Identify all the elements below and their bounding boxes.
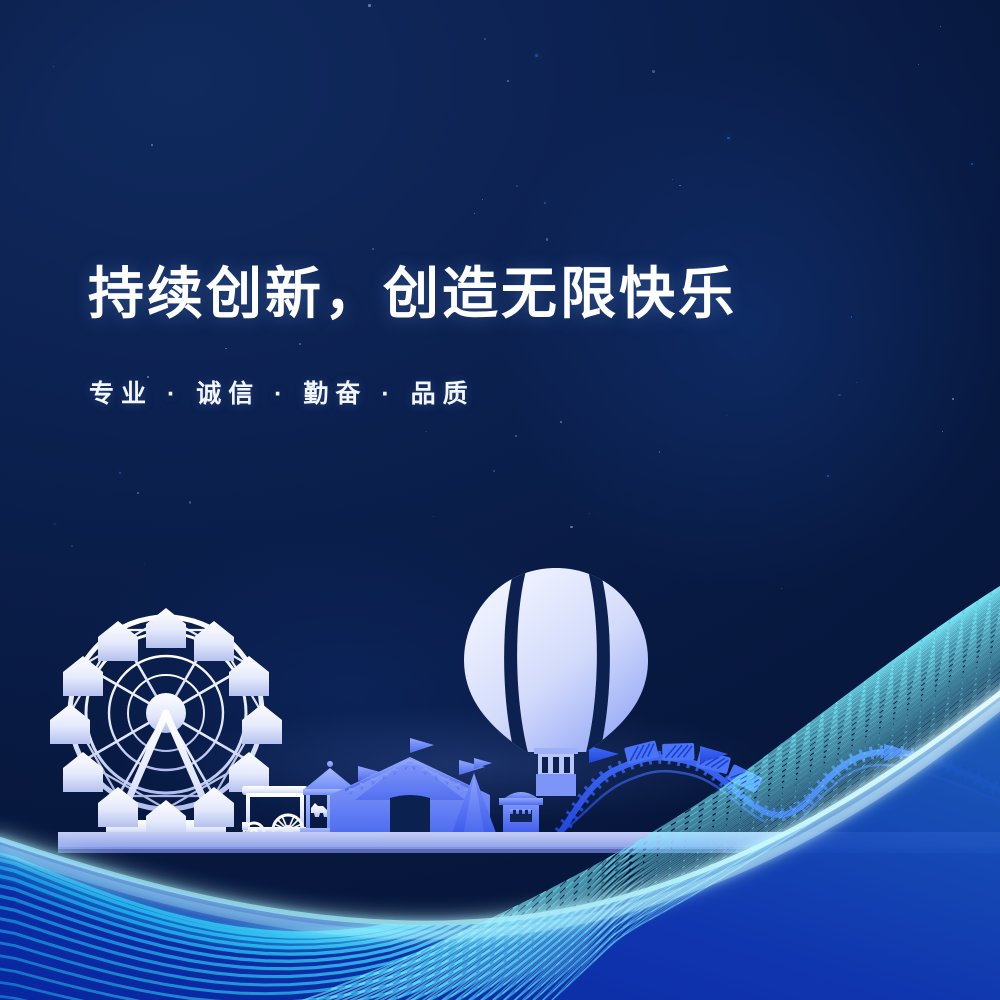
wave-mesh-line [569,836,602,868]
wave-mesh-line [585,810,615,839]
wave-mesh-line [699,752,727,769]
wave-mesh-line [739,734,768,753]
wave-mesh-line [560,824,588,849]
wave-mesh-line [488,883,518,907]
wave-mesh-line [727,735,754,751]
wave-mesh-line [615,789,643,806]
wave-mesh-line [435,902,462,918]
wave-mesh-line [587,802,615,828]
glowing-wave-mesh [0,0,1000,1000]
wave-mesh-line [656,775,685,792]
wave-mesh-line [613,797,643,816]
wave-mesh-line [574,810,601,834]
wave-mesh-line [653,788,685,807]
wave-mesh-line [588,799,615,824]
wave-mesh-line [630,780,657,794]
wave-mesh-line [476,882,504,903]
wave-mesh-line [652,792,685,812]
wave-mesh-line [542,853,574,882]
wave-mesh-line [502,874,532,899]
wave-mesh-line [673,760,699,774]
wave-mesh-line [671,765,699,781]
wave-mesh-line [682,770,713,789]
wave-mesh-line [687,753,713,767]
wave-mesh-line [572,821,602,849]
wave-mesh-line [643,777,671,792]
wave-mesh-line [767,719,796,738]
wave-mesh-line [505,861,532,882]
wave-mesh-line [709,761,741,781]
wave-mesh-line [700,747,726,761]
wave-mesh-line [713,742,740,758]
wave-mesh-line [492,867,518,886]
wave-mesh-line [623,810,657,830]
wave-mesh-line [712,745,740,762]
wave-mesh-line [575,807,601,830]
wave-mesh-line [626,795,657,813]
wave-mesh-line [672,762,699,777]
wave-mesh-line [586,806,615,834]
wave-mesh-line [631,778,657,791]
wave-mesh-line [644,774,671,788]
wave-mesh-line [436,899,462,914]
wave-mesh-line [710,756,741,776]
wave-mesh-line [768,716,796,734]
wave-mesh-line [753,727,782,746]
wave-mesh-line [670,769,699,786]
wave-mesh-line [491,870,518,890]
wave-mesh-line [534,839,560,860]
wave-mesh-line [533,841,560,864]
wave-mesh-line [640,789,671,807]
wave-mesh-line [601,794,629,817]
wave-mesh-line [477,879,504,898]
wave-mesh-line [783,706,810,724]
wave-mesh-line [532,845,560,869]
wave-mesh-line [658,768,685,783]
wave-mesh-line [543,848,574,876]
wave-mesh-line [561,820,588,844]
wave-mesh-line [728,733,754,748]
wave-mesh-line [545,839,574,865]
wave-mesh-line [562,818,588,840]
wave-mesh-line [463,887,490,905]
wave-mesh-line [584,819,616,850]
wave-mesh-line [612,801,643,822]
wave-mesh-line [726,738,754,755]
wave-mesh-line [625,800,657,818]
wave-mesh-line [698,755,727,773]
wave-mesh-line [603,789,629,808]
wave-mesh-line [659,766,685,779]
wave-mesh-line [738,738,768,757]
wave-mesh-line [669,772,699,790]
wave-mesh-line [462,891,490,911]
wave-mesh-line [681,774,713,794]
wave-mesh-line [700,749,727,765]
wave-mesh-line [782,708,810,727]
wave-mesh-line [423,905,449,918]
wave-mesh-line [597,812,629,840]
wave-mesh-line [475,887,504,909]
wave-mesh-line [741,728,768,745]
wave-mesh-line [642,781,671,797]
wave-mesh-line [558,832,588,860]
wave-mesh-line [529,859,560,887]
wave-mesh-line [711,752,741,771]
wave-mesh-line [609,816,643,840]
wave-mesh-line [784,704,810,720]
wave-mesh-line [517,859,546,883]
wave-mesh-line [797,698,824,716]
wave-mesh-line [516,864,546,890]
wave-mesh-line [770,711,796,727]
wave-mesh-line [680,779,713,800]
wave-mesh-line [478,876,504,894]
wave-mesh-line [589,796,615,819]
wave-mesh-line [667,781,699,800]
wave-mesh-line [645,772,671,785]
wave-mesh-line [583,824,616,856]
wave-mesh-line [544,843,574,870]
wave-mesh-line [515,869,546,896]
wave-mesh-line [724,745,754,764]
wave-mesh-line [697,759,727,777]
wave-mesh-line [548,829,574,850]
wave-mesh-line [585,815,616,845]
wave-mesh-line [464,884,490,901]
wave-mesh-line [714,740,740,755]
wave-mesh-line [504,864,532,887]
wave-mesh-line [530,854,560,880]
wave-mesh-line [725,741,754,759]
wave-mesh-line [755,721,782,738]
wave-mesh-line [638,799,671,819]
wave-mesh-line [474,892,504,915]
wave-mesh-line [520,849,546,869]
wave-mesh-line [629,783,657,798]
wave-mesh-line [696,763,727,782]
banner-canvas: 持续创新，创造无限快乐 专业 · 诚信 · 勤奋 · 品质 [0,0,1000,1000]
wave-mesh-line [556,842,588,872]
wave-mesh-line [666,786,699,806]
wave-mesh-line [571,826,602,855]
wave-mesh-line [506,858,532,877]
wave-mesh-line [686,756,713,771]
wave-mesh-line [754,724,782,742]
wave-mesh-line [610,811,643,834]
wave-mesh-line [602,791,629,812]
wave-mesh-line [449,894,476,911]
wave-mesh-line [684,762,713,779]
wave-mesh-line [531,849,560,874]
wave-mesh-line [461,895,490,916]
wave-mesh-line [628,787,657,803]
wave-mesh-line [598,807,629,833]
wave-mesh-line [657,771,685,787]
wave-mesh-line [557,837,588,866]
wave-mesh-line [812,688,838,705]
wave-mesh-line [559,828,588,855]
wave-mesh-line [614,793,643,811]
wave-mesh-line [570,831,602,862]
wave-mesh-line [668,777,699,796]
wave-mesh-line [616,786,643,802]
wave-mesh-line [655,779,685,796]
wave-mesh-line [600,798,629,822]
wave-mesh-line [599,803,629,828]
wave-mesh-line [685,759,713,775]
wave-mesh-line [683,766,713,784]
wave-mesh-line [611,806,643,828]
wave-mesh-line [798,696,824,712]
wave-mesh-line [695,768,727,788]
wave-mesh-line [627,791,657,808]
wave-mesh-line [742,726,768,741]
wave-mesh-line [546,835,574,860]
wave-mesh-line [596,817,629,846]
wave-mesh-line [654,783,685,801]
wave-mesh-line [596,822,630,852]
wave-mesh-line [756,719,782,735]
wave-mesh-line [637,804,671,824]
wave-mesh-line [624,805,657,824]
wave-mesh-line [712,748,741,766]
wave-mesh-line [519,851,546,873]
wave-mesh-line [489,878,518,901]
wave-mesh-line [769,713,796,730]
wave-mesh-line [740,731,768,749]
wave-mesh-line [573,817,602,844]
wave-mesh-line [503,869,532,893]
wave-mesh-line [518,855,546,878]
wave-mesh-line [547,831,574,854]
wave-mesh-line [448,898,476,917]
wave-mesh-line [639,794,671,813]
wave-mesh-line [490,874,518,896]
wave-mesh-line [641,785,671,802]
wave-mesh-line [651,797,685,818]
wave-mesh-line [723,749,754,769]
wave-mesh-line [617,783,643,797]
wave-mesh-line [573,813,601,839]
wave-mesh-line [450,892,476,908]
